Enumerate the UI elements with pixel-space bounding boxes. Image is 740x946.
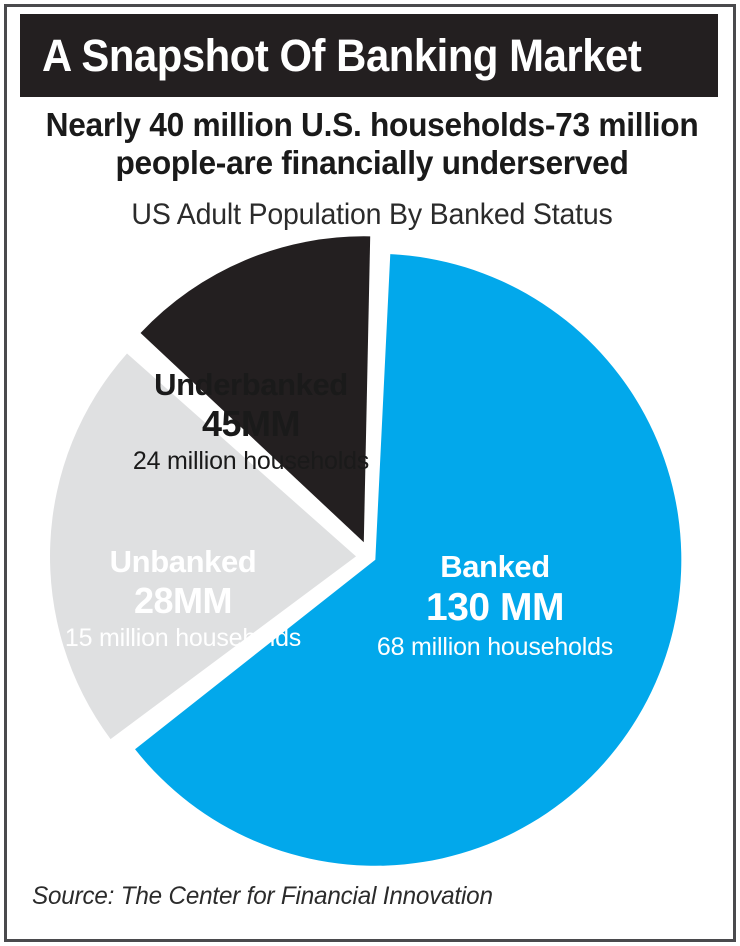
pie-chart-svg (0, 225, 740, 885)
infographic-root: A Snapshot Of Banking Market Nearly 40 m… (0, 0, 740, 946)
headline-text: Nearly 40 million U.S. households-73 mil… (36, 106, 708, 183)
source-line: Source: The Center for Financial Innovat… (32, 882, 493, 911)
pie-chart (0, 225, 740, 885)
page-title: A Snapshot Of Banking Market (42, 33, 641, 78)
title-banner: A Snapshot Of Banking Market (20, 14, 718, 97)
